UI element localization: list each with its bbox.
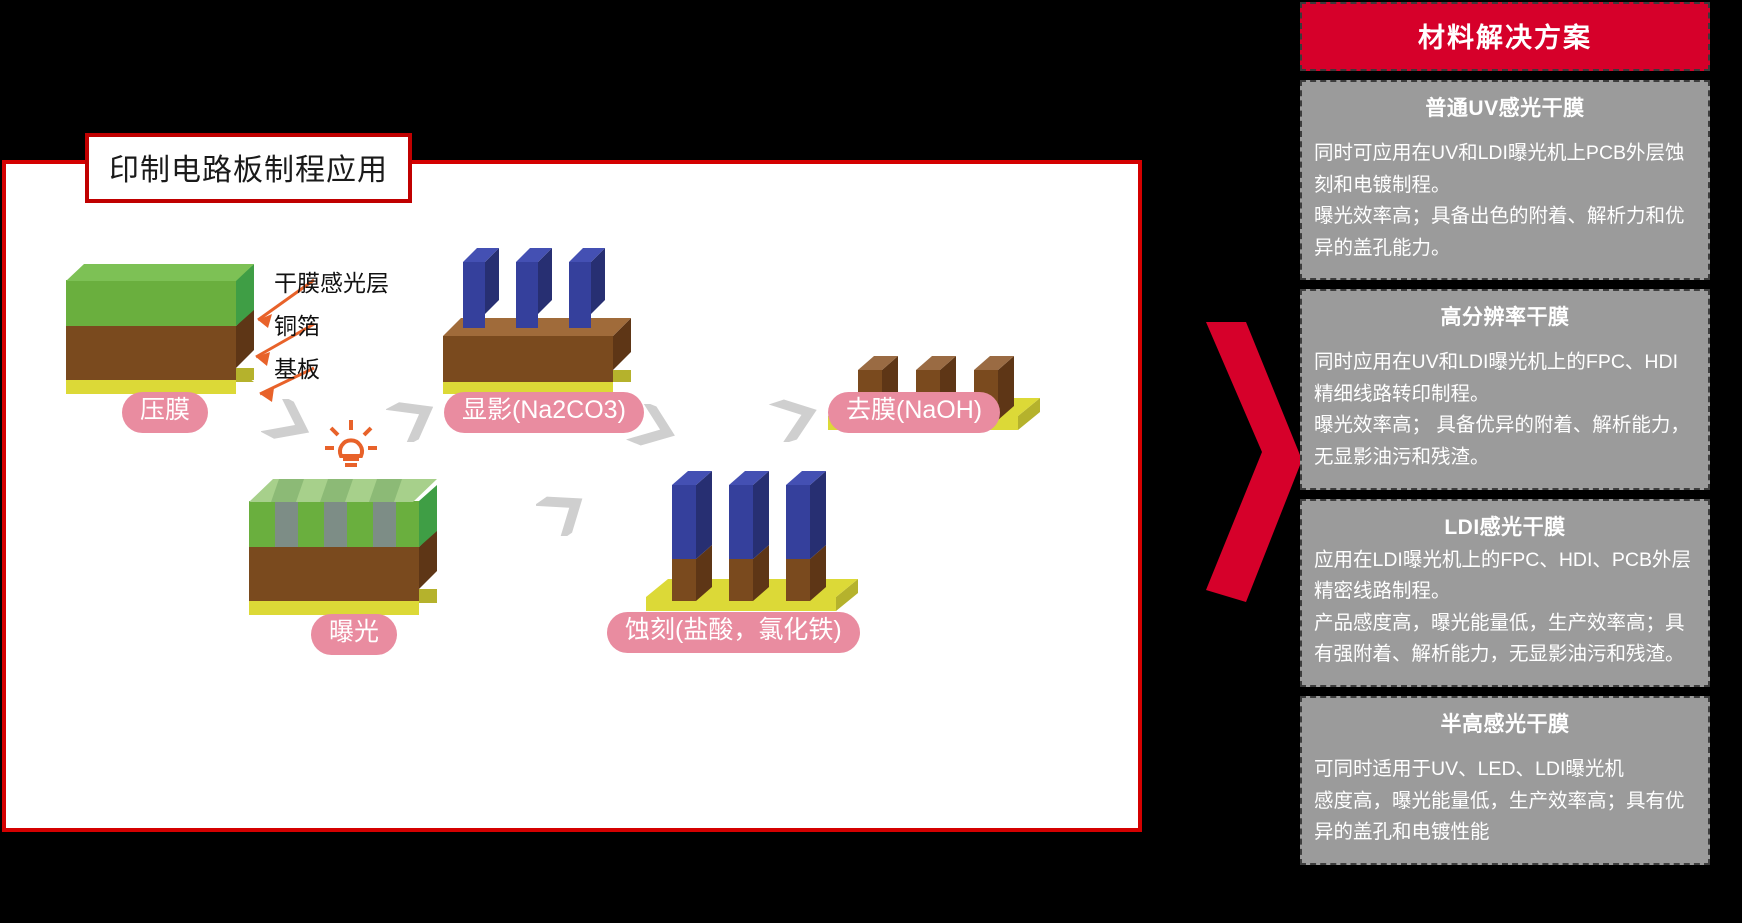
step-pill-strip[interactable]: 去膜(NaOH) — [828, 392, 1000, 433]
solution-card-title: LDI感光干膜 — [1314, 511, 1696, 541]
solution-card-halfheight[interactable]: 半高感光干膜 可同时适用于UV、LED、LDI曝光机 感度高，曝光能量低，生产效… — [1300, 696, 1710, 865]
solution-card-title: 半高感光干膜 — [1314, 708, 1696, 738]
callout-label-dryfilm: 干膜感光层 — [274, 264, 389, 298]
step-pill-exposure[interactable]: 曝光 — [311, 614, 397, 655]
solution-card-ldi[interactable]: LDI感光干膜 应用在LDI曝光机上的FPC、HDI、PCB外层精密线路制程。 … — [1300, 499, 1710, 687]
callout-label-substrate: 基板 — [274, 350, 320, 384]
solution-card-body: 可同时适用于UV、LED、LDI曝光机 感度高，曝光能量低，生产效率高；具有优异… — [1314, 754, 1696, 849]
solution-card-title: 高分辨率干膜 — [1314, 301, 1696, 331]
red-chevron-arrow-icon — [1200, 322, 1310, 602]
panel-header: 材料解决方案 — [1300, 2, 1710, 71]
page-title: 印制电路板制程应用 — [85, 133, 412, 203]
block-develop — [443, 266, 643, 396]
block-exposure — [249, 479, 449, 619]
solution-card-uv[interactable]: 普通UV感光干膜 同时可应用在UV和LDI曝光机上PCB外层蚀刻和电镀制程。 曝… — [1300, 80, 1710, 280]
step-pill-develop[interactable]: 显影(Na2CO3) — [444, 392, 644, 433]
chevron-right-icon-1 — [261, 399, 321, 449]
chevron-right-icon-5 — [536, 484, 596, 536]
solution-card-title: 普通UV感光干膜 — [1314, 92, 1696, 122]
material-solutions-panel: 材料解决方案 普通UV感光干膜 同时可应用在UV和LDI曝光机上PCB外层蚀刻和… — [1300, 2, 1710, 865]
step-pill-etch[interactable]: 蚀刻(盐酸，氯化铁) — [607, 612, 860, 653]
solution-card-body: 同时应用在UV和LDI曝光机上的FPC、HDI精细线路转印制程。 曝光效率高； … — [1314, 347, 1696, 473]
solution-card-highres[interactable]: 高分辨率干膜 同时应用在UV和LDI曝光机上的FPC、HDI精细线路转印制程。 … — [1300, 289, 1710, 489]
pcb-process-diagram-card: 干膜感光层 铜箔 基板 压膜 — [2, 160, 1142, 832]
block-etch — [646, 469, 876, 619]
callout-label-copper: 铜箔 — [274, 307, 320, 341]
chevron-right-icon-4 — [768, 392, 828, 442]
solution-card-body: 同时可应用在UV和LDI曝光机上PCB外层蚀刻和电镀制程。 曝光效率高；具备出色… — [1314, 138, 1696, 264]
solution-card-body: 应用在LDI曝光机上的FPC、HDI、PCB外层精密线路制程。 产品感度高，曝光… — [1314, 545, 1696, 671]
chevron-right-icon-2 — [386, 392, 446, 442]
slide-canvas: 干膜感光层 铜箔 基板 压膜 — [0, 0, 1742, 923]
light-bulb-icon — [321, 416, 381, 478]
step-pill-lamination[interactable]: 压膜 — [122, 392, 208, 433]
